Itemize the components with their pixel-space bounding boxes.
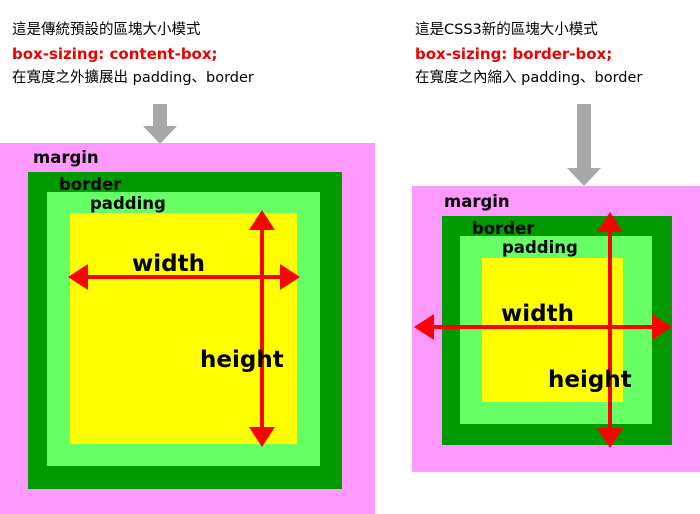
- diagram-canvas: 這是傳統預設的區塊大小模式 box-sizing: content-box; 在…: [0, 0, 700, 514]
- caption-right-code: box-sizing: border-box;: [415, 42, 642, 66]
- arrow-head: [567, 168, 601, 186]
- caption-left-code: box-sizing: content-box;: [12, 42, 254, 66]
- arrow-head: [143, 126, 177, 144]
- left-width-label: width: [132, 252, 205, 276]
- arrow-tip-right: [280, 264, 300, 290]
- left-height-label: height: [200, 348, 284, 372]
- arrow-shaft: [577, 104, 591, 170]
- arrow-tip-down: [597, 428, 623, 448]
- arrow-shaft: [153, 104, 167, 128]
- right-padding-label: padding: [502, 239, 578, 257]
- right-height-measure-arrow: [595, 212, 625, 448]
- left-margin-label: margin: [33, 149, 99, 167]
- right-margin-label: margin: [444, 193, 510, 211]
- right-height-label: height: [548, 368, 632, 392]
- left-box-border-layer: border padding: [28, 172, 342, 489]
- left-box-margin-layer: margin border padding: [0, 143, 375, 514]
- left-box-padding-layer: padding: [47, 192, 320, 466]
- caption-border-box: 這是CSS3新的區塊大小模式 box-sizing: border-box; 在…: [415, 18, 642, 90]
- caption-right-line-3: 在寬度之內縮入 padding、border: [415, 66, 642, 90]
- arrow-tip-down: [249, 427, 275, 447]
- caption-left-line-1: 這是傳統預設的區塊大小模式: [12, 18, 254, 42]
- arrow-tip-right: [652, 314, 672, 340]
- caption-right-line-1: 這是CSS3新的區塊大小模式: [415, 18, 642, 42]
- arrow-line: [260, 224, 264, 433]
- left-height-measure-arrow: [247, 210, 277, 447]
- down-arrow-icon: [142, 104, 178, 144]
- arrow-line: [608, 226, 612, 434]
- left-padding-label: padding: [90, 195, 166, 213]
- caption-left-line-3: 在寬度之外擴展出 padding、border: [12, 66, 254, 90]
- caption-content-box: 這是傳統預設的區塊大小模式 box-sizing: content-box; 在…: [12, 18, 254, 90]
- down-arrow-icon: [566, 104, 602, 188]
- right-width-label: width: [501, 302, 574, 326]
